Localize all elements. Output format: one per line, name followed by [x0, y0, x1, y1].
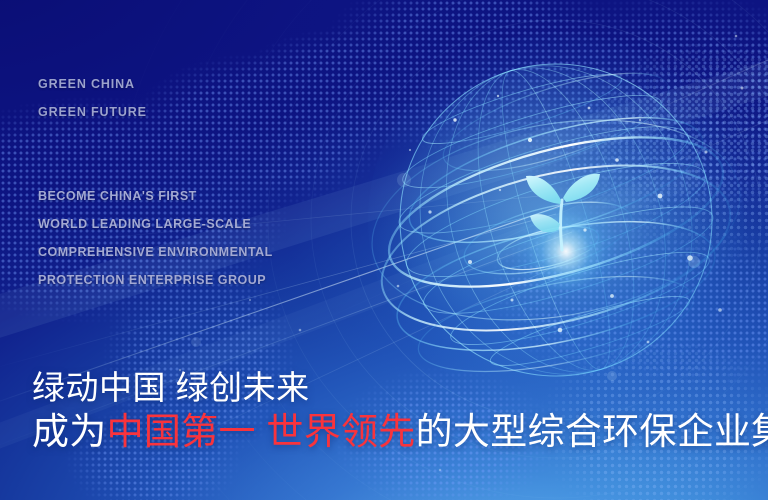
mission-block: BECOME CHINA'S FIRST WORLD LEADING LARGE… [38, 182, 273, 294]
headline-block: 绿动中国 绿创未来 成为中国第一 世界领先的大型综合环保企业集团 [32, 368, 768, 455]
headline-highlight: 中国第一 世界领先 [107, 411, 416, 452]
sprout-seedling-icon [520, 158, 604, 254]
mission-line-3: COMPREHENSIVE ENVIRONMENTAL [38, 238, 273, 266]
tagline-block: GREEN CHINA GREEN FUTURE [38, 70, 147, 126]
headline-line-2: 成为中国第一 世界领先的大型综合环保企业集团 [32, 409, 768, 455]
mission-line-4: PROTECTION ENTERPRISE GROUP [38, 266, 273, 294]
banner-root: GREEN CHINA GREEN FUTURE BECOME CHINA'S … [0, 0, 768, 500]
tagline-line-1: GREEN CHINA [38, 70, 147, 98]
mission-line-2: WORLD LEADING LARGE-SCALE [38, 210, 273, 238]
headline-suffix: 的大型综合环保企业集团 [416, 411, 768, 452]
tagline-line-2: GREEN FUTURE [38, 98, 147, 126]
mission-line-1: BECOME CHINA'S FIRST [38, 182, 273, 210]
headline-line-1: 绿动中国 绿创未来 [32, 368, 768, 408]
headline-prefix: 成为 [32, 411, 107, 452]
